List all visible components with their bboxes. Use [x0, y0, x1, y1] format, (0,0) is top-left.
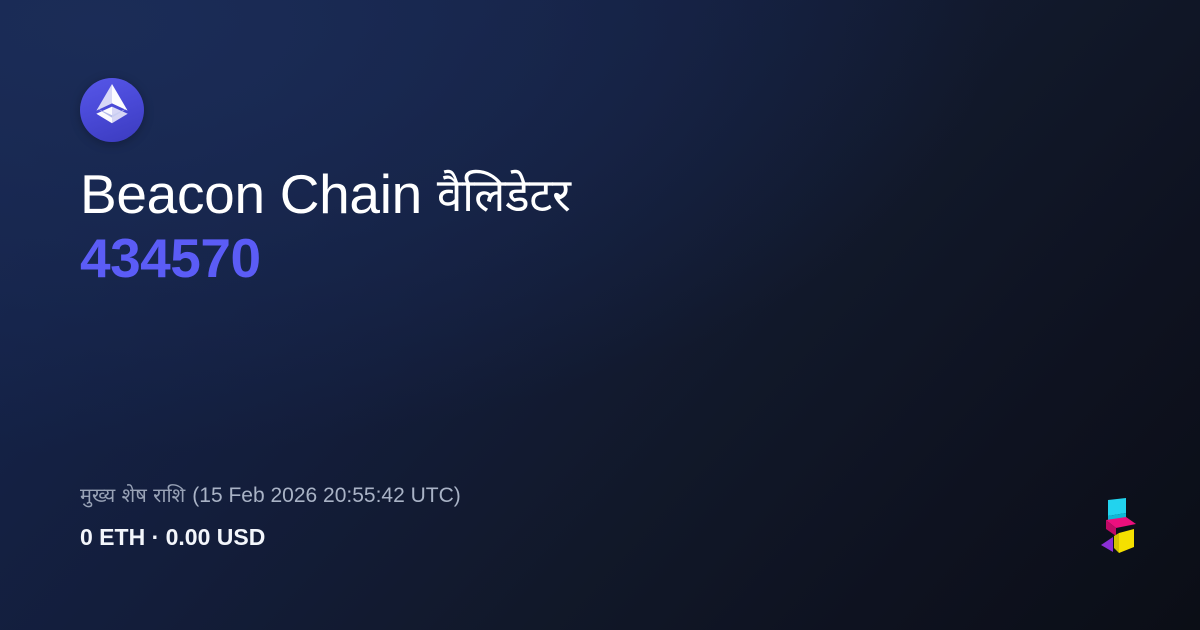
title-prefix: Beacon Chain: [80, 163, 437, 225]
page-title: Beacon Chain वैलिडेटर 434570: [80, 162, 1120, 289]
balance-label-row: मुख्य शेष राशि(15 Feb 2026 20:55:42 UTC): [80, 481, 1120, 510]
validator-index: 434570: [80, 227, 1120, 289]
ethereum-icon: [80, 78, 144, 142]
og-card: Beacon Chain वैलिडेटर 434570 मुख्य शेष र…: [0, 0, 1200, 630]
title-suffix-devanagari: वैलिडेटर: [437, 168, 571, 222]
balance-label: मुख्य शेष राशि: [80, 483, 185, 507]
beaconchain-blocks-icon: [1096, 496, 1142, 558]
balance-timestamp: (15 Feb 2026 20:55:42 UTC): [192, 484, 461, 507]
title-text-line: Beacon Chain वैलिडेटर: [80, 162, 1120, 227]
card-header: Beacon Chain वैलिडेटर 434570: [80, 78, 1120, 289]
card-footer: मुख्य शेष राशि(15 Feb 2026 20:55:42 UTC)…: [80, 481, 1120, 552]
balance-value: 0 ETH · 0.00 USD: [80, 522, 1120, 552]
